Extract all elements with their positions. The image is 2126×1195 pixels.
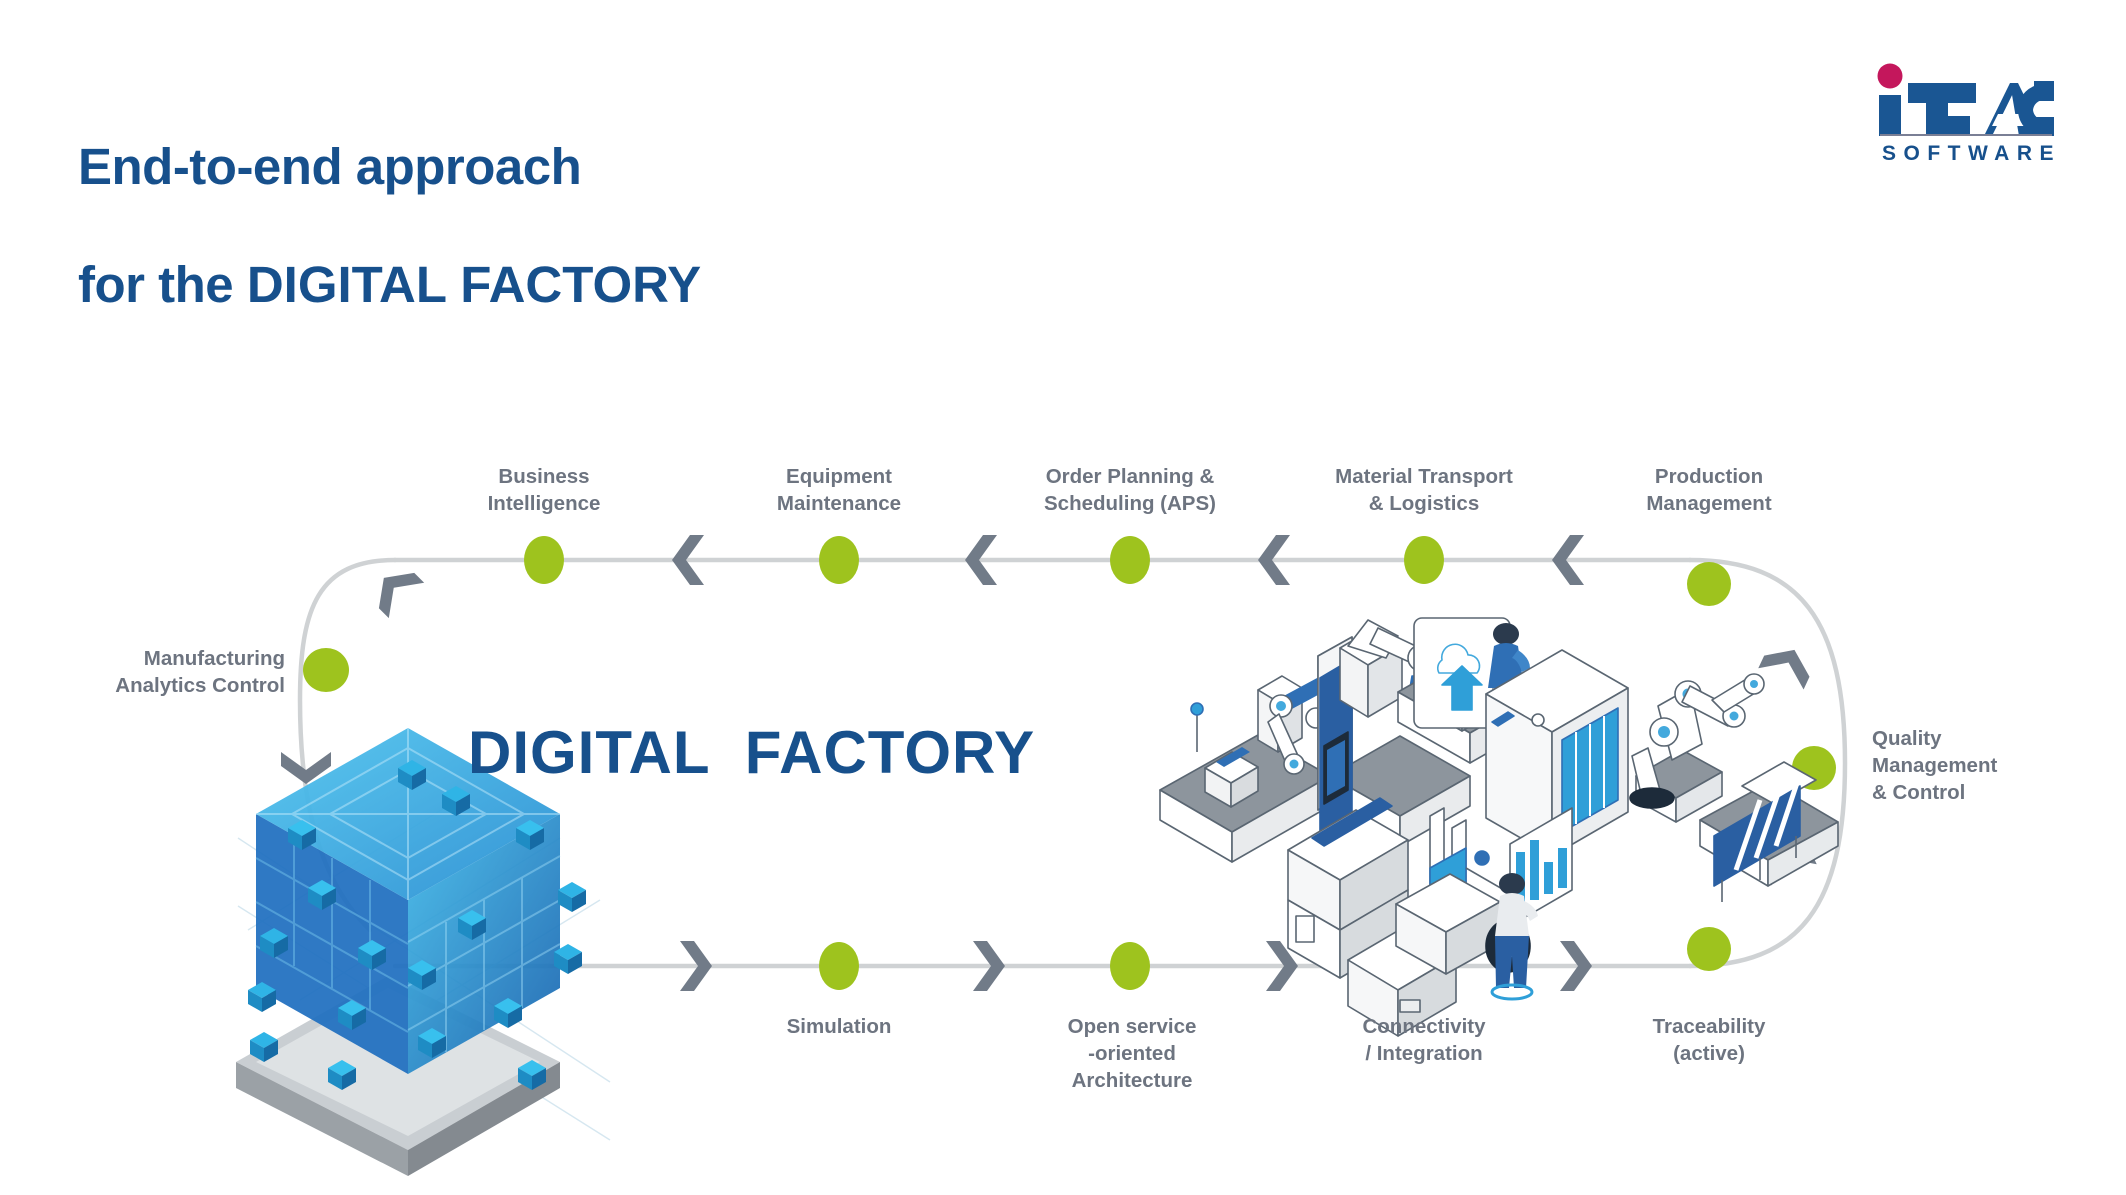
node-label-production-management[interactable]: Production Management	[1646, 463, 1771, 517]
data-cube-illustration	[236, 728, 610, 1176]
node-dot-open-service-oriented-architecture	[1110, 942, 1150, 990]
node-dot-manufacturing-analytics-control	[303, 648, 349, 692]
node-dot-business-intelligence	[524, 536, 564, 584]
node-dot-production-management	[1687, 562, 1731, 606]
node-label-order-planning-scheduling-aps[interactable]: Order Planning & Scheduling (APS)	[1044, 463, 1216, 517]
node-label-business-intelligence[interactable]: Business Intelligence	[488, 463, 601, 517]
chevron-arc-top-left	[366, 560, 424, 618]
node-dot-order-planning-scheduling	[1110, 536, 1150, 584]
node-label-connectivity-integration[interactable]: Connectivity / Integration	[1362, 1013, 1485, 1067]
node-label-manufacturing-analytics-control[interactable]: Manufacturing Analytics Control	[115, 645, 285, 699]
node-label-material-transport-logistics[interactable]: Material Transport & Logistics	[1335, 463, 1513, 517]
node-label-traceability-active[interactable]: Traceability (active)	[1653, 1013, 1766, 1067]
isometric-factory-illustration	[1160, 618, 1838, 1036]
digital-factory-wordmark: DIGITAL FACTORY	[468, 718, 1035, 787]
node-label-open-service-oriented-architecture[interactable]: Open service -oriented Architecture	[1068, 1013, 1197, 1094]
node-dot-traceability-active	[1687, 927, 1731, 971]
node-dot-material-transport-logistics	[1404, 536, 1444, 584]
node-dot-equipment-maintenance	[819, 536, 859, 584]
node-label-simulation[interactable]: Simulation	[787, 1013, 892, 1040]
node-label-quality-management-control[interactable]: Quality Management & Control	[1872, 725, 1997, 806]
node-label-equipment-maintenance[interactable]: Equipment Maintenance	[777, 463, 901, 517]
node-dot-simulation	[819, 942, 859, 990]
digital-factory-loop-diagram: DIGITAL FACTORY Manufacturing Analytics …	[0, 0, 2126, 1195]
chevron-arc-top-right	[1758, 639, 1817, 689]
